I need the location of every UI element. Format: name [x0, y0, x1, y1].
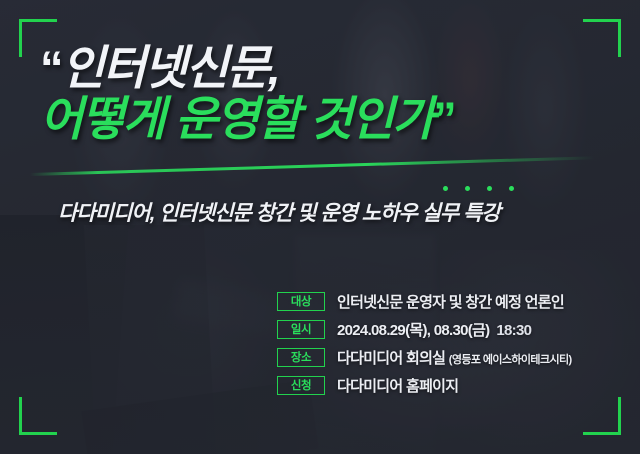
detail-value-datetime: 2024.08.29(목), 08.30(금) 18:30 [337, 319, 531, 340]
subtitle-lead: 다다미디어, 인터넷신문 창간 및 운영 노하우 [58, 202, 422, 225]
detail-value-audience-main: 인터넷신문 운영자 및 창간 예정 언론인 [337, 294, 564, 311]
headline-line-1-text: 인터넷신문, [62, 41, 279, 94]
quote-open-mark: “ [40, 41, 62, 94]
corner-bracket-bottom-left-icon [19, 397, 57, 435]
detail-badge-datetime: 일시 [277, 320, 325, 339]
event-details: 대상 인터넷신문 운영자 및 창간 예정 언론인 일시 2024.08.29(목… [277, 287, 572, 399]
detail-value-venue-main: 다다미디어 회의실 [337, 350, 445, 367]
subtitle: 다다미디어, 인터넷신문 창간 및 운영 노하우 실무 특강 [58, 197, 500, 227]
headline-line-1: “인터넷신문, [36, 44, 616, 92]
headline: “인터넷신문, 어떻게 운영할 것인가” [36, 44, 616, 143]
detail-row-audience: 대상 인터넷신문 운영자 및 창간 예정 언론인 [277, 287, 572, 315]
event-poster: “인터넷신문, 어떻게 운영할 것인가” 다다미디어, 인터넷신문 창간 및 운… [0, 0, 640, 454]
dot-2-icon [465, 186, 470, 191]
detail-value-datetime-time: 18:30 [496, 322, 531, 339]
detail-value-registration: 다다미디어 홈페이지 [337, 375, 458, 396]
dot-3-icon [487, 186, 492, 191]
corner-bracket-bottom-right-icon [583, 397, 621, 435]
subtitle-emphasis: 실무 특강 [422, 202, 500, 225]
detail-value-venue: 다다미디어 회의실 (영등포 에이스하이테크시티) [337, 347, 572, 368]
dot-1-icon [443, 186, 448, 191]
detail-value-registration-main: 다다미디어 홈페이지 [337, 378, 458, 395]
detail-badge-audience: 대상 [277, 292, 325, 311]
dot-4-icon [509, 186, 514, 191]
detail-badge-registration: 신청 [277, 376, 325, 395]
detail-value-audience: 인터넷신문 운영자 및 창간 예정 언론인 [337, 291, 564, 312]
detail-row-datetime: 일시 2024.08.29(목), 08.30(금) 18:30 [277, 315, 572, 343]
headline-line-2: 어떻게 운영할 것인가” [36, 95, 616, 143]
detail-value-venue-note: (영등포 에이스하이테크시티) [449, 354, 572, 366]
quote-close-mark: ” [433, 92, 455, 145]
detail-row-registration: 신청 다다미디어 홈페이지 [277, 371, 572, 399]
headline-line-2-text: 어떻게 운영할 것인가 [40, 92, 433, 145]
detail-badge-venue: 장소 [277, 348, 325, 367]
decorative-dots [443, 186, 514, 191]
detail-row-venue: 장소 다다미디어 회의실 (영등포 에이스하이테크시티) [277, 343, 572, 371]
detail-value-datetime-main: 2024.08.29(목), 08.30(금) [337, 322, 489, 339]
